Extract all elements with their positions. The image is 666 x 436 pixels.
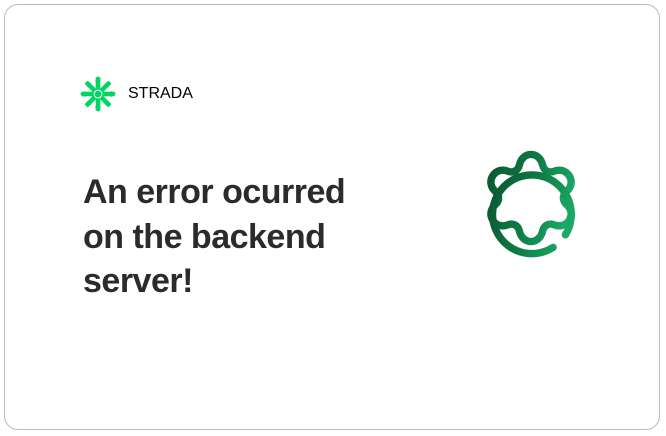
gear-cog-icon: [449, 143, 613, 307]
brand-lockup: STRADA: [79, 75, 193, 113]
error-card: STRADA An error ocurred on the backend s…: [4, 4, 660, 430]
asterisk-star-icon: [79, 75, 117, 113]
brand-wordmark: STRADA: [128, 85, 193, 103]
error-message: An error ocurred on the backend server!: [83, 170, 383, 304]
